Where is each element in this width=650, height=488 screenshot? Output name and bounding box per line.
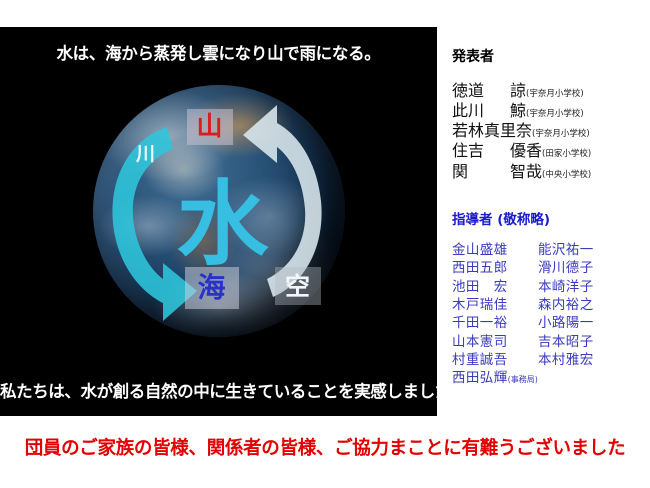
label-sea: 海 (185, 267, 239, 309)
instructor-name: 能沢祐一 (538, 241, 648, 259)
grid-spacer (538, 369, 648, 387)
earth-water-cycle-diagram: 山 川 水 海 空 (93, 85, 345, 337)
photo-panel: 水は、海から蒸発し雲になり山で雨になる。 山 川 水 海 空 私たちは、水が創る… (0, 27, 437, 416)
presenter-row: 住吉 優香 (田家小学校) (452, 141, 648, 161)
presenter-row: 若林真里奈 (宇奈月小学校) (452, 121, 648, 141)
presenter-given-name: 智哉 (510, 162, 542, 182)
instructor-name: 木戸瑞佳 (452, 296, 538, 314)
instructor-name: 本崎洋子 (538, 278, 648, 296)
presenter-surname: 関 (452, 162, 510, 182)
instructor-name: 本村雅宏 (538, 351, 648, 369)
label-river: 川 (129, 141, 163, 167)
instructor-name: 小路陽一 (538, 314, 648, 332)
presenter-surname: 此川 (452, 101, 510, 121)
instructor-name: 金山盛雄 (452, 241, 538, 259)
presenters-list: 徳道 諒 (宇奈月小学校) 此川 鯨 (宇奈月小学校) 若林真里奈 (宇奈月小学… (452, 81, 648, 182)
presenter-surname: 住吉 (452, 141, 510, 161)
presenter-surname: 徳道 (452, 81, 510, 101)
presenter-given-name: 鯨 (510, 101, 526, 121)
label-mountain: 山 (187, 109, 233, 145)
instructors-heading: 指導者 (敬称略) (452, 208, 648, 228)
slide-closing-line: 私たちは、水が創る自然の中に生きていることを実感しました。 (0, 378, 437, 402)
instructors-grid: 金山盛雄 能沢祐一 西田五郎 滑川德子 池田 宏 本崎洋子 木戸瑞佳 森内裕之 … (452, 241, 648, 388)
instructor-name-secretariat: 西田弘輝(事務局) (452, 369, 538, 387)
instructor-name: 西田五郎 (452, 259, 538, 277)
presenter-given-name: 優香 (510, 141, 542, 161)
instructor-name-text: 西田弘輝 (452, 370, 508, 386)
thank-you-banner: 団員のご家族の皆様、関係者の皆様、ご協力まことに有難うございました (0, 434, 650, 460)
slide-headline: 水は、海から蒸発し雲になり山で雨になる。 (0, 40, 437, 64)
presenter-school: (宇奈月小学校) (526, 89, 584, 100)
presenter-school: (中央小学校) (542, 170, 591, 181)
instructor-name: 滑川德子 (538, 259, 648, 277)
presenter-surname: 若林真里奈 (452, 121, 532, 141)
instructor-name: 千田一裕 (452, 314, 538, 332)
secretariat-note: (事務局) (508, 375, 538, 384)
presenters-heading: 発表者 (452, 46, 648, 66)
label-sky: 空 (275, 267, 321, 305)
instructor-name: 森内裕之 (538, 296, 648, 314)
presenter-given-name: 諒 (510, 81, 526, 101)
presenter-school: (田家小学校) (542, 149, 591, 160)
presenter-row: 徳道 諒 (宇奈月小学校) (452, 81, 648, 101)
instructor-name: 吉本昭子 (538, 333, 648, 351)
label-water: 水 (169, 177, 277, 273)
instructor-name: 池田 宏 (452, 278, 538, 296)
instructor-name: 山本憲司 (452, 333, 538, 351)
presenter-school: (宇奈月小学校) (532, 129, 590, 140)
credits-column: 発表者 徳道 諒 (宇奈月小学校) 此川 鯨 (宇奈月小学校) 若林真里奈 (宇… (452, 46, 648, 388)
instructors-block: 指導者 (敬称略) 金山盛雄 能沢祐一 西田五郎 滑川德子 池田 宏 本崎洋子 … (452, 208, 648, 388)
presenter-row: 関 智哉 (中央小学校) (452, 162, 648, 182)
presenter-row: 此川 鯨 (宇奈月小学校) (452, 101, 648, 121)
instructor-name: 村重誠吾 (452, 351, 538, 369)
presenter-school: (宇奈月小学校) (526, 109, 584, 120)
